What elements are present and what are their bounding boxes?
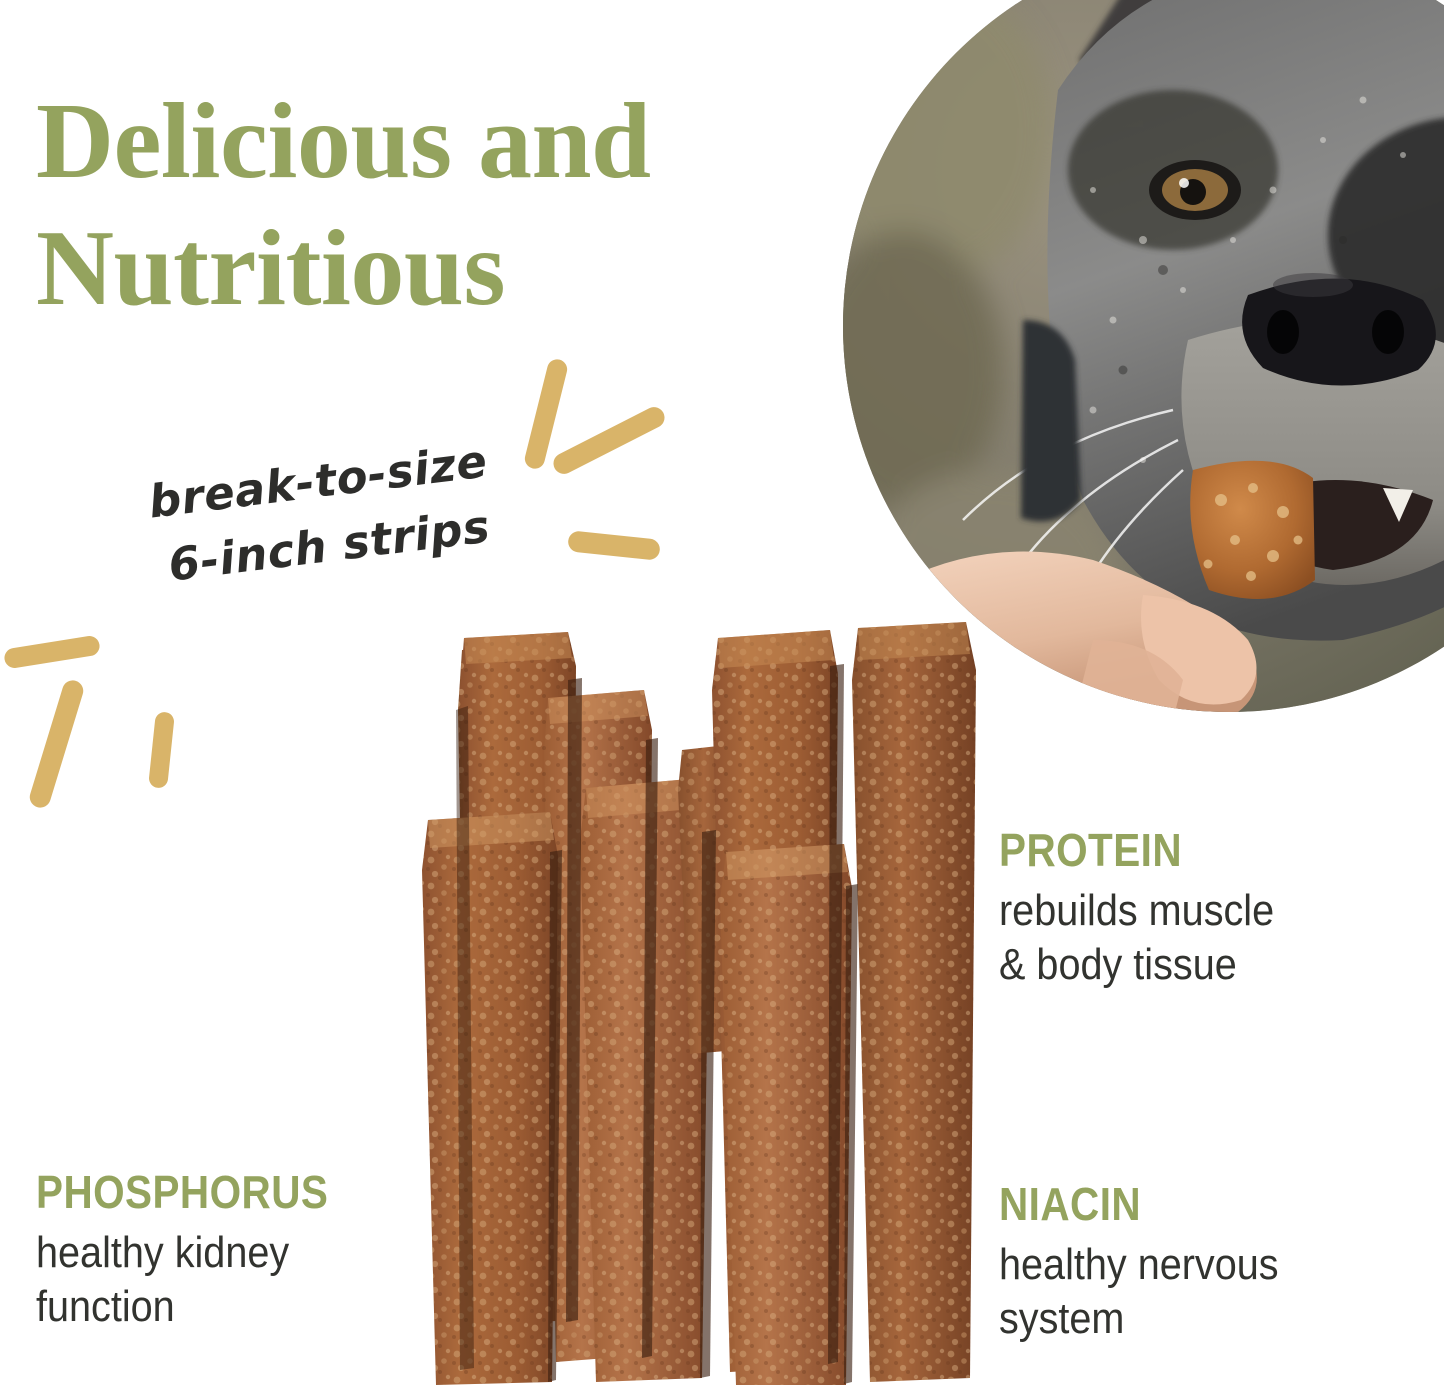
callout-niacin-desc-line-1: healthy nervous [999,1238,1386,1292]
sparkle-stroke-icon [567,530,661,561]
callout-protein-desc: rebuilds muscle & body tissue [999,884,1386,991]
handwritten-annotation: break-to-size 6-inch strips [145,429,499,600]
dog-photo [843,0,1444,712]
page-title: Delicious and Nutritious [36,78,836,333]
callout-protein-desc-line-1: rebuilds muscle [999,884,1386,938]
headline-line-2: Nutritious [36,205,836,332]
sparkle-stroke-icon [27,678,86,810]
sparkle-stroke-icon [550,403,668,477]
callout-phosphorus: PHOSPHORUS healthy kidney function [36,1168,456,1334]
callout-protein-title: PROTEIN [999,826,1377,874]
callout-phosphorus-title: PHOSPHORUS [36,1168,406,1216]
dog-photo-illustration [843,0,1444,712]
callout-niacin-title: NIACIN [999,1180,1377,1228]
callout-phosphorus-desc: healthy kidney function [36,1226,414,1333]
callout-protein-desc-line-2: & body tissue [999,938,1386,992]
treat-strips-illustration [400,620,1000,1385]
sparkle-stroke-icon [148,711,175,789]
callout-phosphorus-desc-line-1: healthy kidney [36,1226,414,1280]
callout-phosphorus-desc-line-2: function [36,1280,414,1334]
callout-niacin-desc-line-2: system [999,1292,1386,1346]
treat-strips [400,620,1000,1385]
sparkle-stroke-icon [3,635,101,670]
callout-protein: PROTEIN rebuilds muscle & body tissue [999,826,1429,992]
callout-niacin: NIACIN healthy nervous system [999,1180,1429,1346]
callout-niacin-desc: healthy nervous system [999,1238,1386,1345]
headline-line-1: Delicious and [36,78,836,205]
product-feature-graphic: Delicious and Nutritious break-to-size 6… [0,0,1444,1385]
